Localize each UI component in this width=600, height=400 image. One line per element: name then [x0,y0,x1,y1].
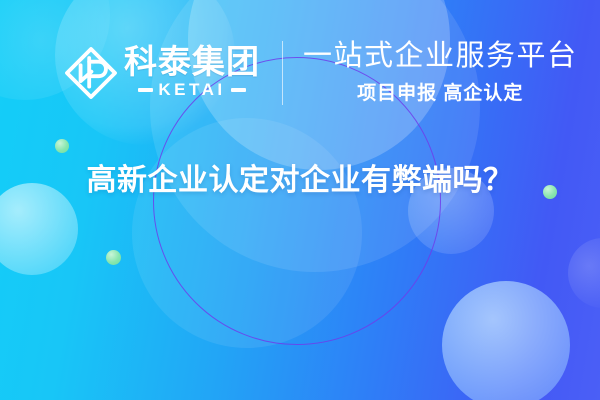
brand-logo: 科泰集团 KETAI [62,44,260,102]
brand-name-en: KETAI [158,80,225,100]
header-divider [282,41,283,105]
decor-dot-green-2 [106,250,121,265]
decor-circle-mid [132,118,362,348]
page-title: 高新企业认定对企业有弊端吗？ [0,155,600,199]
slogan-secondary: 项目申报 高企认定 [303,78,578,105]
wordmark-dash-right [231,88,246,92]
brand-name-en-row: KETAI [138,80,245,100]
ketai-monogram-icon [62,44,120,102]
slogan-block: 一站式企业服务平台 项目申报 高企认定 [303,40,578,105]
slogan-primary: 一站式企业服务平台 [303,40,578,72]
wordmark-dash-left [138,88,153,92]
decor-circle-bottom-right-faint [568,238,600,308]
brand-name-cn: 科泰集团 [124,45,260,79]
promo-banner: 科泰集团 KETAI 一站式企业服务平台 项目申报 高企认定 高新企业认定对企业… [0,0,600,400]
banner-header: 科泰集团 KETAI 一站式企业服务平台 项目申报 高企认定 [62,40,578,105]
brand-logo-wordmark: 科泰集团 KETAI [124,45,260,100]
decor-dot-green-1 [55,139,69,153]
decor-circle-bottom-right [442,281,570,400]
